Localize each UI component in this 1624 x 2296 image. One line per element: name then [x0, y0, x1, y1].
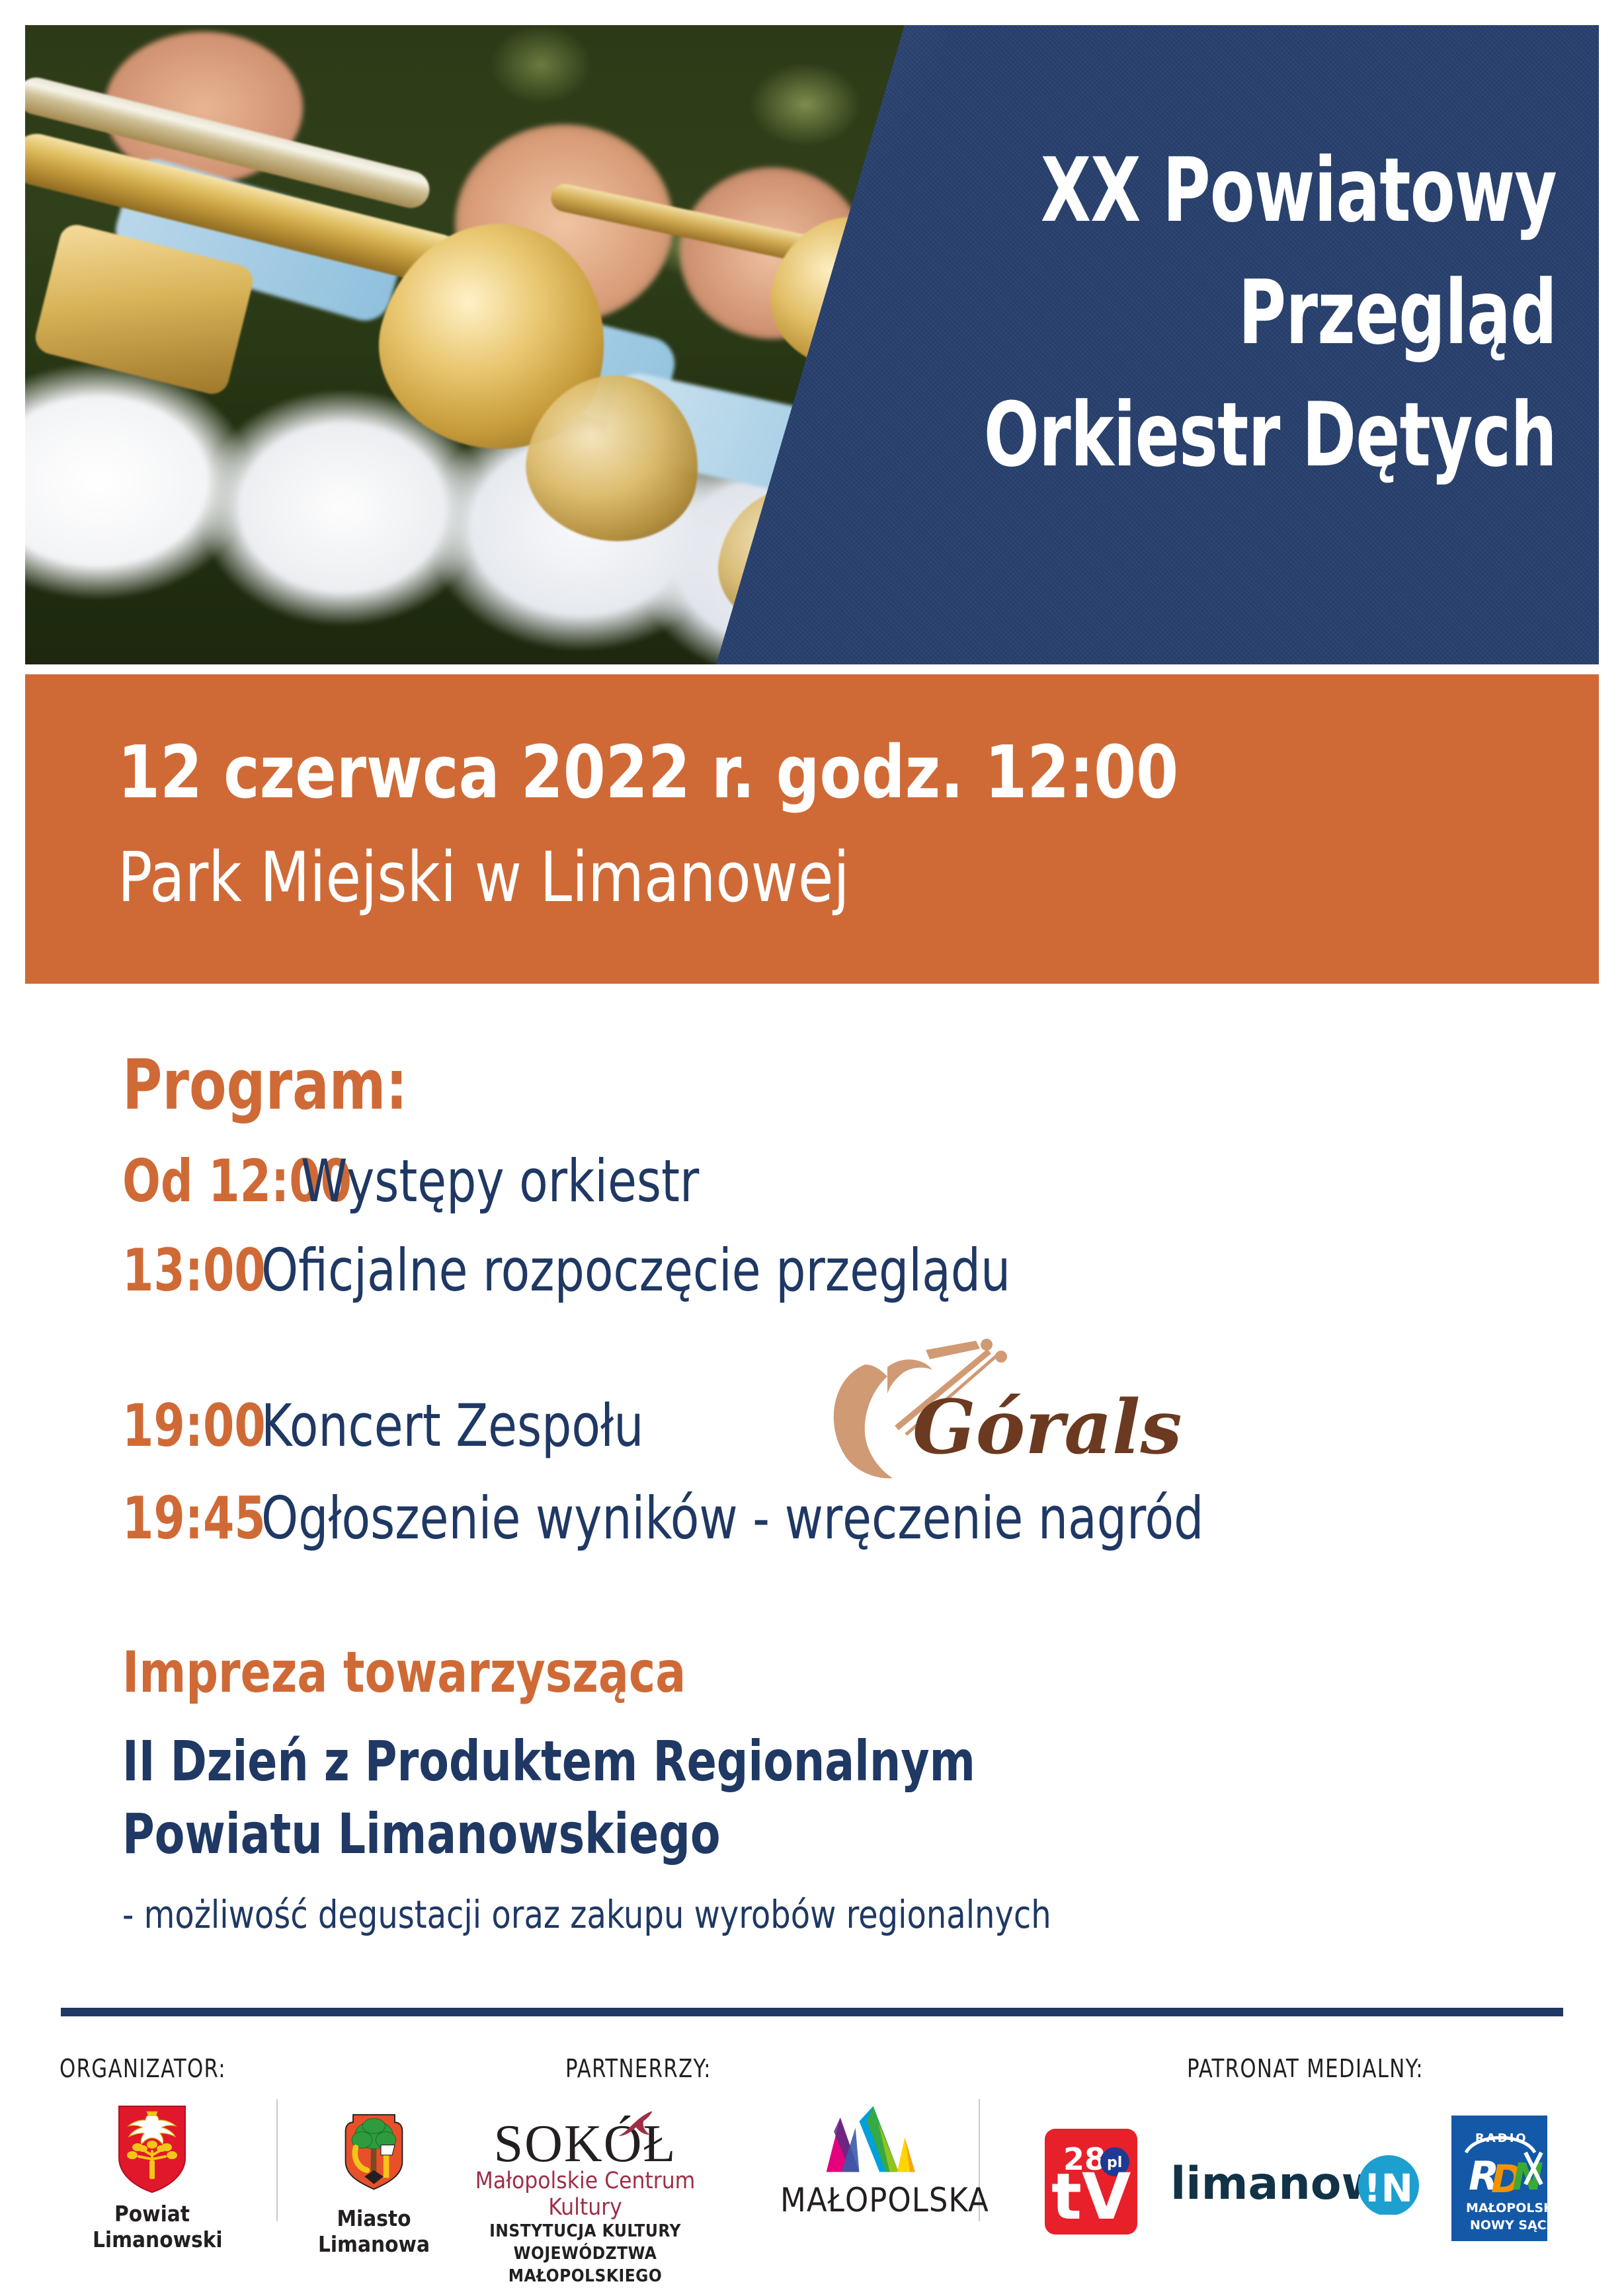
- limanowa-in-logo-svg: limanowa !N: [1170, 2155, 1428, 2215]
- program-time: Od 12:00: [122, 1147, 276, 1215]
- miasto-caption-1: Miasto: [316, 2206, 432, 2232]
- limanowa-in-text: !N: [1363, 2166, 1413, 2211]
- tv28-letter-t: t: [1051, 2160, 1082, 2234]
- miasto-caption-2: Limanowa: [316, 2232, 432, 2258]
- malopolska-logo: MAŁOPOLSKA: [780, 2102, 952, 2254]
- rdn-region-1: MAŁOPOLSKA: [1466, 2201, 1547, 2215]
- tv28-letter-v: V: [1082, 2160, 1131, 2234]
- media-label: PATRONAT MEDIALNY:: [1187, 2054, 1424, 2083]
- program-row: 13:00Oficjalne rozpoczęcie przeglądu: [122, 1236, 1094, 1304]
- event-place: Park Miejski w Limanowej: [118, 837, 850, 918]
- program-heading: Program:: [122, 1045, 407, 1125]
- violin-peg-2: [995, 1351, 1007, 1363]
- tv28-logo-svg: 28 pl t V: [1045, 2129, 1137, 2235]
- malopolska-wordmark: MAŁOPOLSKA: [780, 2181, 952, 2219]
- title-line-3: Orkiestr Dętych: [906, 374, 1557, 496]
- footer-separator-1: [276, 2099, 278, 2221]
- goralsi-wordmark: Góralsi: [913, 1384, 1184, 1471]
- program-row: 19:00Koncert Zespołu: [122, 1392, 686, 1460]
- rdn-region-2: NOWY SĄCZ: [1470, 2218, 1547, 2233]
- violin-neck: [926, 1341, 980, 1359]
- program-time: 19:45: [122, 1484, 242, 1552]
- miasto-caption: Miasto Limanowa: [316, 2206, 432, 2258]
- powiat-coat-of-arms-icon: [112, 2102, 192, 2195]
- program-desc: Ogłoszenie wyników - wręczenie nagród: [261, 1484, 1203, 1552]
- sokol-institution-2: WOJEWÓDZTWA MAŁOPOLSKIEGO: [456, 2243, 714, 2288]
- powiat-limanowski-logo: Powiat Limanowski: [93, 2102, 212, 2274]
- sokol-subtitle: Małopolskie Centrum Kultury: [456, 2168, 714, 2221]
- event-datetime: 12 czerwca 2022 r. godz. 12:00: [118, 730, 1178, 814]
- eagle-crown-icon: [147, 2112, 157, 2116]
- side-event-line-1: II Dzień z Produktem Regionalnym: [122, 1729, 975, 1794]
- powiat-caption-2: Limanowski: [93, 2227, 212, 2253]
- tv28-logo: 28 pl t V: [1045, 2129, 1137, 2235]
- miasto-limanowa-logo: Miasto Limanowa: [316, 2112, 432, 2277]
- violin-peg-1: [981, 1339, 993, 1351]
- powiat-caption-1: Powiat: [93, 2201, 212, 2227]
- axe-blade-icon: [381, 2145, 395, 2155]
- program-desc: Oficjalne rozpoczęcie przeglądu: [261, 1236, 1010, 1304]
- malopolska-mountain-icon: [810, 2102, 922, 2178]
- program-desc: Występy orkiestr: [301, 1147, 699, 1215]
- sokol-logo: SOKÓŁ Małopolskie Centrum Kultury INSTYT…: [456, 2119, 714, 2251]
- date-place-band: 12 czerwca 2022 r. godz. 12:00 Park Miej…: [25, 674, 1599, 984]
- miasto-coat-of-arms-icon: [339, 2112, 409, 2194]
- title-line-1: XX Powiatowy: [906, 130, 1557, 252]
- footer-divider: [61, 2008, 1563, 2016]
- program-row: Od 12:00Występy orkiestr: [122, 1147, 743, 1215]
- side-event-line-2: Powiatu Limanowskiego: [122, 1801, 721, 1866]
- goralsi-logo-svg: Góralsi: [813, 1335, 1184, 1487]
- falcon-bird-icon: [612, 2110, 656, 2139]
- sokol-institution-1: INSTYTUCJA KULTURY: [456, 2221, 714, 2243]
- side-event-note: - możliwość degustacji oraz zakupu wyrob…: [122, 1892, 1051, 1937]
- partners-label: PARTNERRZY:: [565, 2054, 711, 2083]
- program-time: 13:00: [122, 1236, 242, 1304]
- radio-rdn-logo: RADIO R D N MAŁOPOLSKA NOWY SĄCZ: [1451, 2116, 1547, 2241]
- organizer-label: ORGANIZATOR:: [60, 2054, 226, 2083]
- program-row: 19:45Ogłoszenie wyników - wręczenie nagr…: [122, 1484, 1309, 1552]
- violin-body-shape: [834, 1365, 893, 1478]
- radio-rdn-logo-svg: RADIO R D N MAŁOPOLSKA NOWY SĄCZ: [1451, 2116, 1547, 2241]
- hero-section: XX Powiatowy Przegląd Orkiestr Dętych: [25, 25, 1599, 664]
- page-title: XX Powiatowy Przegląd Orkiestr Dętych: [906, 130, 1557, 496]
- program-time: 19:00: [122, 1392, 242, 1460]
- limanowa-in-logo: limanowa !N: [1170, 2155, 1428, 2215]
- side-event-heading: Impreza towarzysząca: [122, 1640, 686, 1706]
- title-line-2: Przegląd: [906, 252, 1557, 374]
- rdn-radio-text: RADIO: [1475, 2131, 1528, 2145]
- goralsi-logo: Góralsi: [813, 1335, 1184, 1487]
- program-desc: Koncert Zespołu: [261, 1392, 643, 1460]
- powiat-caption: Powiat Limanowski: [93, 2201, 212, 2253]
- poster-root: XX Powiatowy Przegląd Orkiestr Dętych 12…: [0, 0, 1624, 2296]
